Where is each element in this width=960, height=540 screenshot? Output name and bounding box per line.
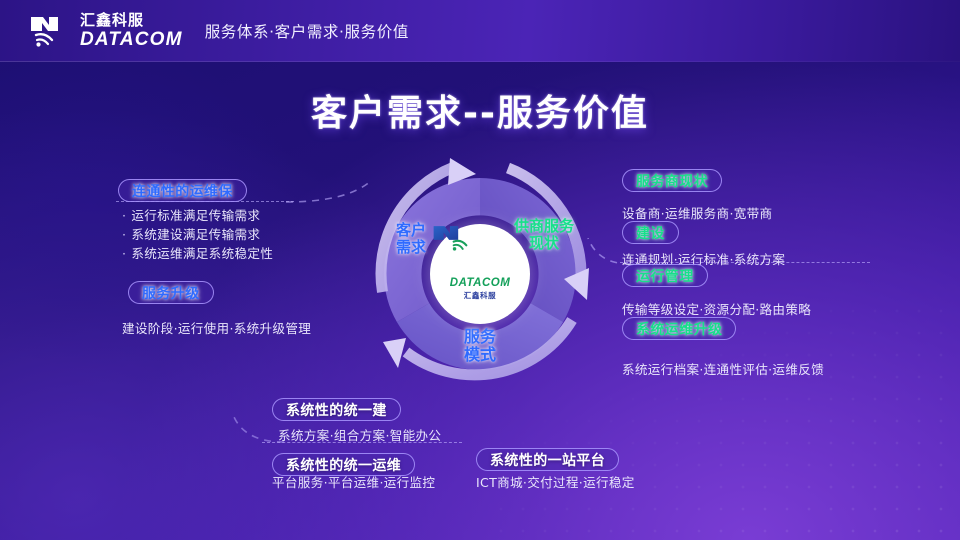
header-subtitle: 服务体系·客户需求·服务价值 xyxy=(205,20,409,42)
badge-service-upgrade[interactable]: 服务升级 xyxy=(128,281,214,304)
text-unified-construction: 系统方案·组合方案·智能办公 xyxy=(278,425,441,444)
badge-one-stop-platform[interactable]: 系统性的一站平台 xyxy=(476,448,619,471)
hub-logo-chinese: 汇鑫科服 xyxy=(464,290,496,301)
wheel-label-service-mode-line2: 模式 xyxy=(434,346,526,364)
wheel-hub-logo: DATACOM 汇鑫科服 xyxy=(430,224,530,324)
datacom-h-wifi-logo-icon xyxy=(28,13,72,49)
wheel-label-service-mode-line1: 服务 xyxy=(434,328,526,346)
left-bullet-list-connectivity: ·运行标准满足传输需求 ·系统建设满足传输需求 ·系统运维满足系统稳定性 xyxy=(122,206,273,263)
logo-chinese-name: 汇鑫科服 xyxy=(80,13,183,28)
text-provider-status: 设备商·运维服务商·宽带商 xyxy=(622,203,772,222)
wheel-label-supplier-status-line1: 供商服务 xyxy=(496,218,592,235)
datacom-h-wifi-logo-icon xyxy=(460,248,500,276)
text-operation-management: 传输等级设定·资源分配·路由策略 xyxy=(622,299,811,318)
badge-provider-status[interactable]: 服务商现状 xyxy=(622,169,722,192)
service-cycle-diagram: 客户 需求 供商服务 现状 服务 模式 xyxy=(358,152,602,396)
text-system-ops-upgrade: 系统运行档案·连通性评估·运维反馈 xyxy=(622,359,824,378)
slide-canvas: 汇鑫科服 DATACOM 服务体系·客户需求·服务价值 客户需求--服务价值 xyxy=(0,0,960,540)
list-item: ·运行标准满足传输需求 xyxy=(122,206,273,225)
slide-header: 汇鑫科服 DATACOM 服务体系·客户需求·服务价值 xyxy=(0,0,960,62)
logo-english-name: DATACOM xyxy=(80,30,183,49)
list-item: ·系统运维满足系统稳定性 xyxy=(122,244,273,263)
page-title: 客户需求--服务价值 xyxy=(0,84,960,136)
list-item: ·系统建设满足传输需求 xyxy=(122,225,273,244)
hub-logo-english: DATACOM xyxy=(450,277,511,289)
text-one-stop-platform: ICT商城·交付过程·运行稳定 xyxy=(476,472,635,491)
brand-logo: 汇鑫科服 DATACOM xyxy=(28,13,183,49)
badge-unified-construction[interactable]: 系统性的统一建 xyxy=(272,398,401,421)
badge-connectivity-ops[interactable]: 连通性的运维保 xyxy=(118,179,247,202)
text-unified-operations: 平台服务·平台运维·运行监控 xyxy=(272,472,435,491)
badge-operation-management[interactable]: 运行管理 xyxy=(622,264,708,287)
wheel-label-service-mode: 服务 模式 xyxy=(434,328,526,364)
badge-system-ops-upgrade[interactable]: 系统运维升级 xyxy=(622,317,736,340)
text-service-upgrade: 建设阶段·运行使用·系统升级管理 xyxy=(122,318,311,337)
badge-construction[interactable]: 建设 xyxy=(622,221,679,244)
